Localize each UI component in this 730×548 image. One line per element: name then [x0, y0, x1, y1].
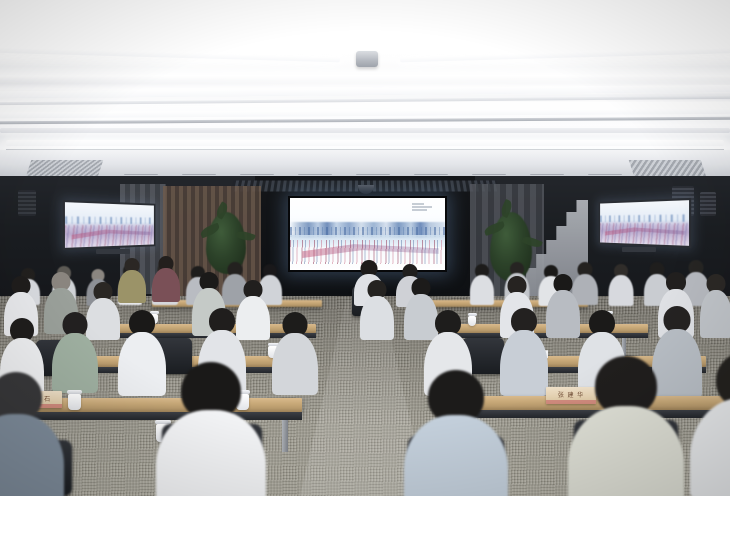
attendee-torso — [470, 275, 494, 305]
ceiling-speaker — [700, 192, 716, 216]
attendee — [272, 312, 318, 392]
foreground-attendee-center — [404, 370, 508, 496]
attendee — [470, 264, 494, 304]
panel-skyline — [65, 216, 154, 224]
attendee-maroon-shirt — [152, 256, 180, 302]
attendee — [360, 280, 394, 338]
ceiling-speaker — [18, 190, 36, 216]
attendee-torso — [608, 275, 633, 306]
screenshot-root: 李 子 石 张 建 华 — [0, 0, 730, 548]
attendee — [700, 274, 730, 336]
left-panel-mount — [96, 249, 130, 254]
ceiling-light-strip — [6, 140, 724, 146]
attendee-torso — [404, 415, 508, 496]
tea-cup — [68, 394, 81, 410]
right-panel-image — [600, 200, 689, 246]
left-panel-image — [65, 202, 154, 248]
foreground-attendee-left — [156, 362, 266, 496]
attendee-olive-jacket — [118, 258, 146, 302]
attendee-torso — [360, 296, 394, 340]
attendee-torso — [700, 290, 730, 338]
attendee-torso — [546, 290, 580, 338]
foreground-attendee-right — [568, 356, 684, 496]
conference-room-photo: 李 子 石 张 建 华 — [0, 0, 730, 496]
attendee-torso — [0, 414, 64, 496]
attendee — [546, 274, 580, 336]
left-led-panel[interactable] — [63, 200, 156, 250]
right-led-panel[interactable] — [599, 198, 692, 248]
right-panel-mount — [622, 247, 656, 252]
smoke-detector-icon — [356, 51, 378, 67]
attendee-torso — [156, 410, 266, 496]
attendee-torso — [152, 268, 180, 302]
attendee-torso — [568, 406, 684, 496]
attendee-torso — [690, 398, 730, 496]
attendee-torso — [118, 270, 146, 303]
panel-city — [600, 223, 689, 246]
panel-skyline — [600, 214, 689, 222]
foreground-attendee-far-left — [0, 372, 64, 496]
table-leg — [282, 420, 288, 452]
attendee-torso — [272, 333, 318, 395]
foreground-attendee-far-right — [690, 352, 730, 496]
attendee — [608, 264, 633, 305]
screen-watermark-logo — [412, 203, 438, 211]
tea-cup-lid — [67, 390, 82, 394]
ceiling-light-strip — [0, 128, 730, 133]
